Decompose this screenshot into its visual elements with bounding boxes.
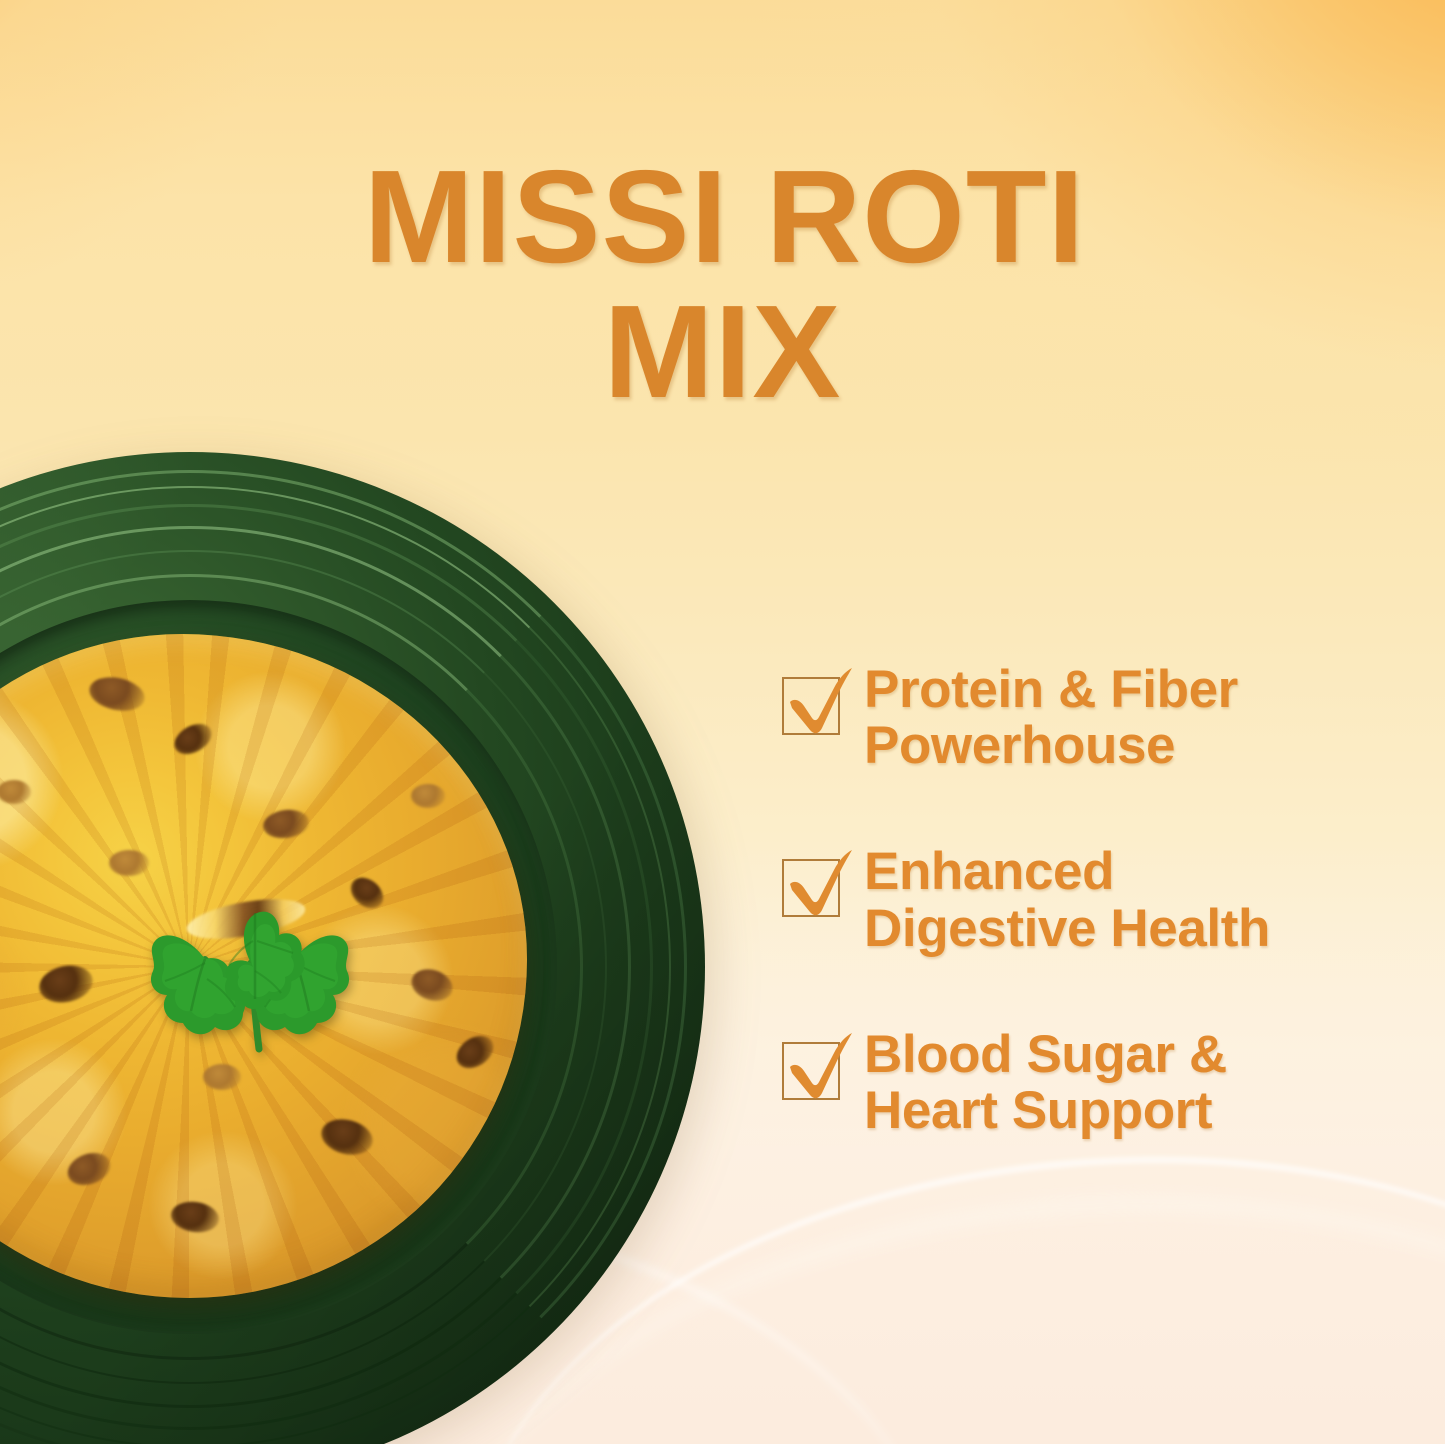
- roti-char-spot: [203, 1064, 241, 1090]
- checkmark-icon: [776, 1023, 860, 1107]
- benefit-label: Blood Sugar & Heart Support: [864, 1025, 1227, 1139]
- benefit-item: Blood Sugar & Heart Support: [778, 1025, 1418, 1139]
- benefit-label: Protein & Fiber Powerhouse: [864, 660, 1238, 774]
- product-title: MISSI ROTI MIX: [0, 150, 1445, 419]
- plate-with-roti-image: [0, 452, 705, 1444]
- checkbox-checked-icon: [778, 668, 842, 732]
- benefit-label: Enhanced Digestive Health: [864, 842, 1270, 956]
- checkbox-checked-icon: [778, 1033, 842, 1097]
- benefit-item: Enhanced Digestive Health: [778, 842, 1418, 956]
- green-plate: [0, 452, 705, 1444]
- checkmark-icon: [776, 658, 860, 742]
- cilantro-leaf-icon: [143, 867, 373, 1057]
- checkbox-checked-icon: [778, 850, 842, 914]
- benefit-item: Protein & Fiber Powerhouse: [778, 660, 1418, 774]
- checkmark-icon: [776, 840, 860, 924]
- title-line-1: MISSI ROTI: [2, 150, 1445, 285]
- benefits-list: Protein & Fiber Powerhouse Enhanced Dige…: [778, 660, 1418, 1139]
- roti-char-spot: [411, 784, 445, 808]
- product-poster: MISSI ROTI MIX Protein & Fiber Powerhous…: [0, 0, 1445, 1444]
- title-line-2: MIX: [0, 285, 1445, 420]
